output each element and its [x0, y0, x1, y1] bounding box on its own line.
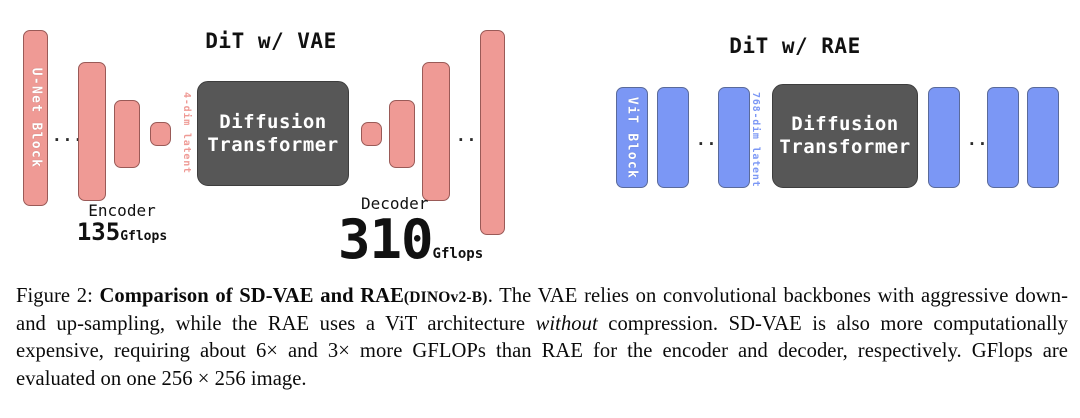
panel-dit-w-rae: DiT w/ RAE ViT Block ... 768-dim latent …	[540, 0, 1080, 278]
vae-unet-block-label: U-Net Block	[28, 68, 43, 168]
panel-title-vae: DiT w/ VAE	[1, 29, 541, 53]
figure-2-root: DiT w/ VAE U-Net Block ... 4-dim latent …	[0, 0, 1080, 418]
panel-title-rae: DiT w/ RAE	[525, 34, 1065, 58]
vae-encoder-block-2	[114, 100, 140, 168]
vae-dt-line-1: Diffusion	[219, 110, 326, 132]
rae-encoder-block-3	[718, 87, 750, 188]
caption-smallcaps: (DINOv2-B)	[404, 289, 488, 306]
rae-diffusion-transformer: Diffusion Transformer	[772, 84, 918, 188]
vae-diffusion-transformer-label: Diffusion Transformer	[198, 110, 348, 156]
rae-encoder-block-2	[657, 87, 689, 188]
vae-encoder-block-1	[78, 62, 106, 201]
vae-latent-label: 4-dim latent	[181, 92, 192, 174]
rae-dt-line-2: Transformer	[779, 136, 910, 158]
vae-decoder-unit: Gflops	[433, 246, 484, 262]
vae-decoder-value: 310	[338, 208, 433, 271]
caption-italic-1: without	[536, 313, 598, 335]
vae-diffusion-transformer: Diffusion Transformer	[197, 81, 349, 186]
vae-encoder-block-3	[150, 122, 171, 146]
vae-encoder-value-row: 135Gflops	[62, 220, 182, 244]
vae-decoder-block-1	[361, 122, 382, 146]
rae-vit-block-label: ViT Block	[625, 96, 640, 178]
diagram-area: DiT w/ VAE U-Net Block ... 4-dim latent …	[0, 0, 1080, 278]
rae-vit-block: ViT Block	[616, 87, 648, 188]
caption-bold-title: Comparison of SD-VAE and RAE	[100, 285, 404, 307]
caption-figure-label: Figure 2:	[16, 285, 93, 307]
rae-dt-line-1: Diffusion	[791, 113, 898, 135]
vae-decoder-value-row: 310Gflops	[338, 213, 523, 267]
vae-decoder-caption: Decoder 310Gflops	[338, 196, 523, 267]
panel-dit-w-vae: DiT w/ VAE U-Net Block ... 4-dim latent …	[0, 0, 540, 278]
vae-unet-block: U-Net Block	[23, 30, 48, 206]
vae-decoder-block-2	[389, 100, 415, 168]
rae-decoder-block-3	[1027, 87, 1059, 188]
vae-encoder-value: 135	[77, 218, 120, 246]
vae-dt-line-2: Transformer	[207, 134, 338, 156]
rae-decoder-block-1	[928, 87, 960, 188]
figure-caption: Figure 2: Comparison of SD-VAE and RAE(D…	[16, 283, 1068, 394]
rae-latent-label: 768-dim latent	[750, 92, 761, 188]
vae-encoder-caption: Encoder 135Gflops	[62, 203, 182, 244]
vae-decoder-block-3	[422, 62, 450, 201]
rae-diffusion-transformer-label: Diffusion Transformer	[773, 113, 917, 159]
rae-decoder-block-2	[987, 87, 1019, 188]
vae-encoder-unit: Gflops	[120, 229, 167, 244]
